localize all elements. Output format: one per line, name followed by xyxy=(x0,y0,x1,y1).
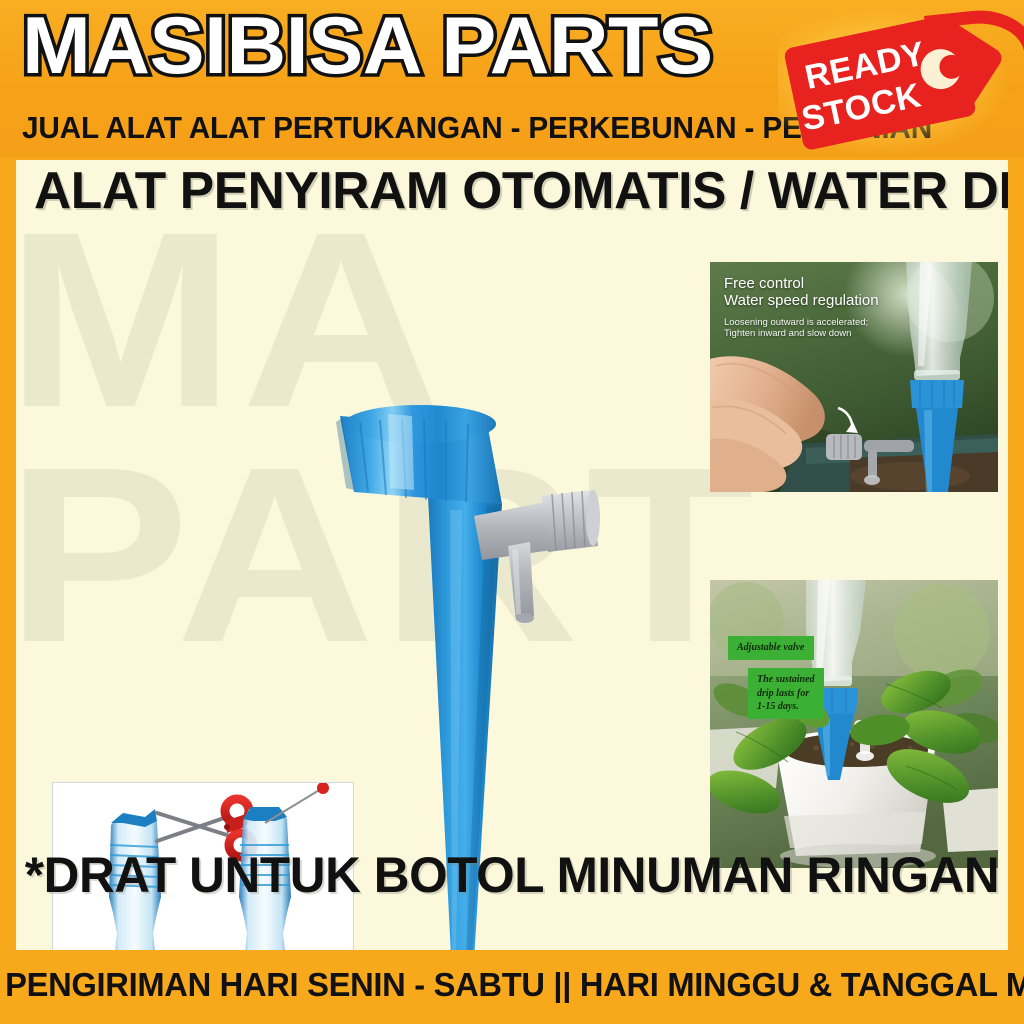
feature-photo-water-speed: Free control Water speed regulation Loos… xyxy=(710,262,998,492)
shipping-info-text: PENGIRIMAN HARI SENIN - SABTU || HARI MI… xyxy=(5,968,1019,1001)
feature-photo-adjustable-valve: Adjustable valve The sustained drip last… xyxy=(710,580,998,868)
photo-caption-sub: Loosening outward is accelerated; Tighte… xyxy=(724,318,868,339)
footnote-text: *DRAT UNTUK BOTOL MINUMAN RINGAN xyxy=(21,850,1003,900)
ready-stock-badge: READY STOCK xyxy=(778,8,1024,154)
photo-caption-title: Free control Water speed regulation xyxy=(724,276,879,310)
page-title: ALAT PENYIRAM OTOMATIS / WATER DRIPPER xyxy=(34,165,1008,217)
footer-banner: PENGIRIMAN HARI SENIN - SABTU || HARI MI… xyxy=(0,952,1024,1024)
green-label-adjustable-valve: Adjustable valve xyxy=(728,636,814,660)
header-banner: MASIBISA PARTS JUAL ALAT ALAT PERTUKANGA… xyxy=(0,0,1024,158)
brand-title: MASIBISA PARTS xyxy=(22,6,713,87)
product-poster: MASIBISA PARTS JUAL ALAT ALAT PERTUKANGA… xyxy=(0,0,1024,1024)
content-panel: MA PART ALAT PENYIRAM OTOMATIS / WATER D… xyxy=(16,160,1008,950)
green-label-drip-duration: The sustained drip lasts for 1-15 days. xyxy=(748,668,824,719)
